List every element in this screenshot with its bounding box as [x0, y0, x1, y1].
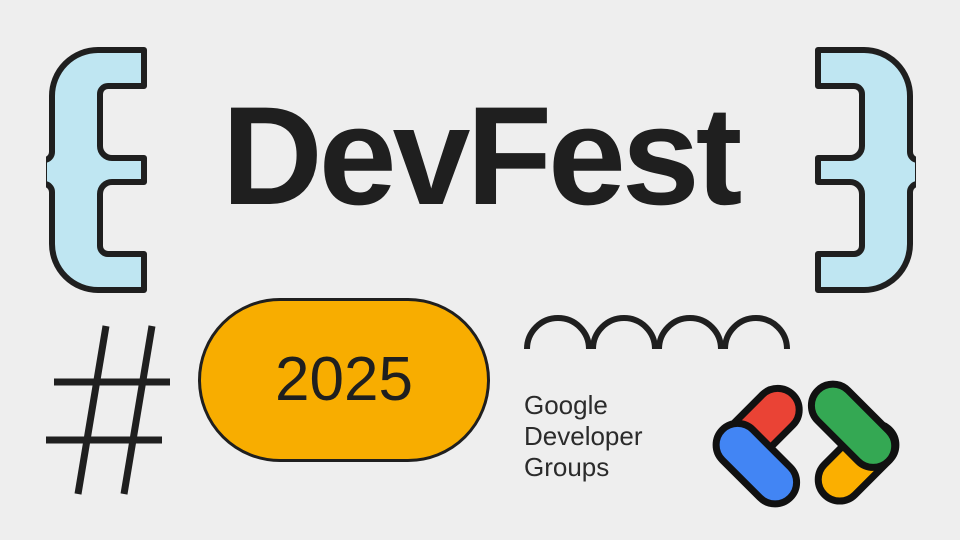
gdg-wordmark: Google Developer Groups: [524, 390, 643, 483]
devfest-wordmark: DevFest: [0, 86, 960, 226]
gdg-logo-icon: [700, 372, 912, 512]
hash-icon: [44, 322, 176, 498]
devfest-poster: DevFest 2025 Google Developer: [0, 0, 960, 540]
arches-ornament: [524, 296, 792, 352]
year-badge[interactable]: 2025: [198, 298, 490, 462]
gdg-line-3: Groups: [524, 452, 643, 483]
gdg-line-2: Developer: [524, 421, 643, 452]
gdg-line-1: Google: [524, 390, 643, 421]
year-label: 2025: [275, 349, 413, 411]
